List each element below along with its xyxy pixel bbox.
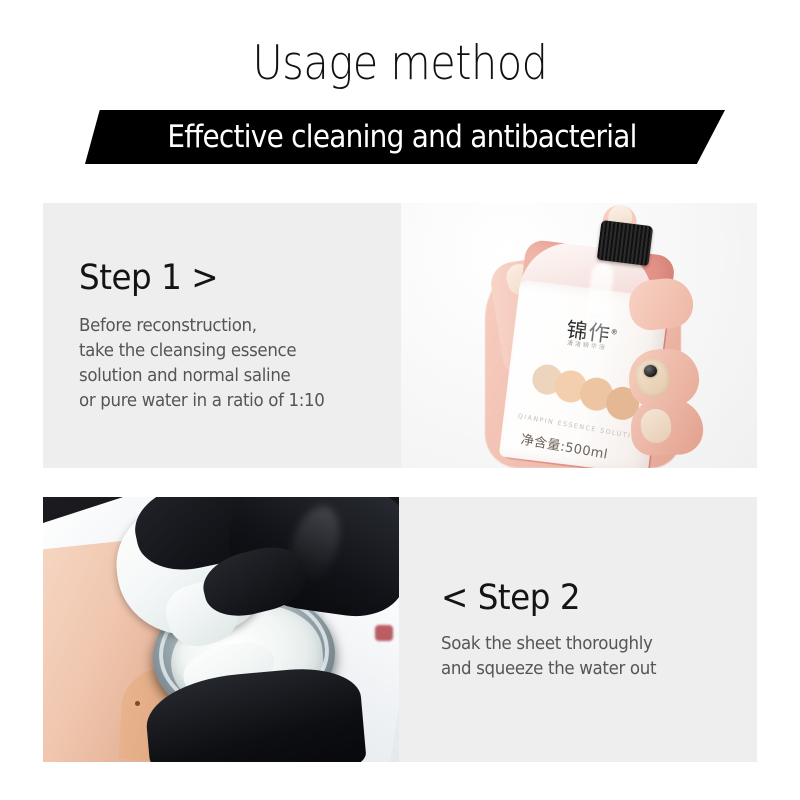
- infographic-page: Usage method Effective cleaning and anti…: [0, 0, 800, 800]
- step-1-photo: 锦作® 清洁精华液 QIANPIN ESSENCE SOLUTION 净含量:5…: [401, 203, 757, 468]
- label-shade-dots: [530, 360, 644, 411]
- step-2-photo: [43, 497, 399, 762]
- bottle-cap: [597, 220, 653, 266]
- page-title: Usage method: [48, 36, 752, 92]
- banner: Effective cleaning and antibacterial: [85, 110, 725, 164]
- step-2-row: < Step 2 Soak the sheet thoroughly and s…: [43, 497, 757, 762]
- nail-gem: [644, 365, 657, 377]
- step-2-text-pane: < Step 2 Soak the sheet thoroughly and s…: [399, 497, 757, 762]
- step-1-body: Before reconstruction, take the cleansin…: [79, 314, 325, 414]
- step-1-text-pane: Step 1 > Before reconstruction, take the…: [43, 203, 401, 468]
- step-1-row: Step 1 > Before reconstruction, take the…: [43, 203, 757, 468]
- step-2-body: Soak the sheet thoroughly and squeeze th…: [441, 632, 741, 682]
- red-accent: [375, 625, 393, 641]
- step-2-heading: < Step 2: [441, 578, 735, 618]
- skin-mark: [135, 701, 140, 706]
- registered-mark: ®: [610, 328, 619, 337]
- banner-text: Effective cleaning and antibacterial: [168, 120, 643, 154]
- step-1-heading: Step 1 >: [79, 258, 218, 298]
